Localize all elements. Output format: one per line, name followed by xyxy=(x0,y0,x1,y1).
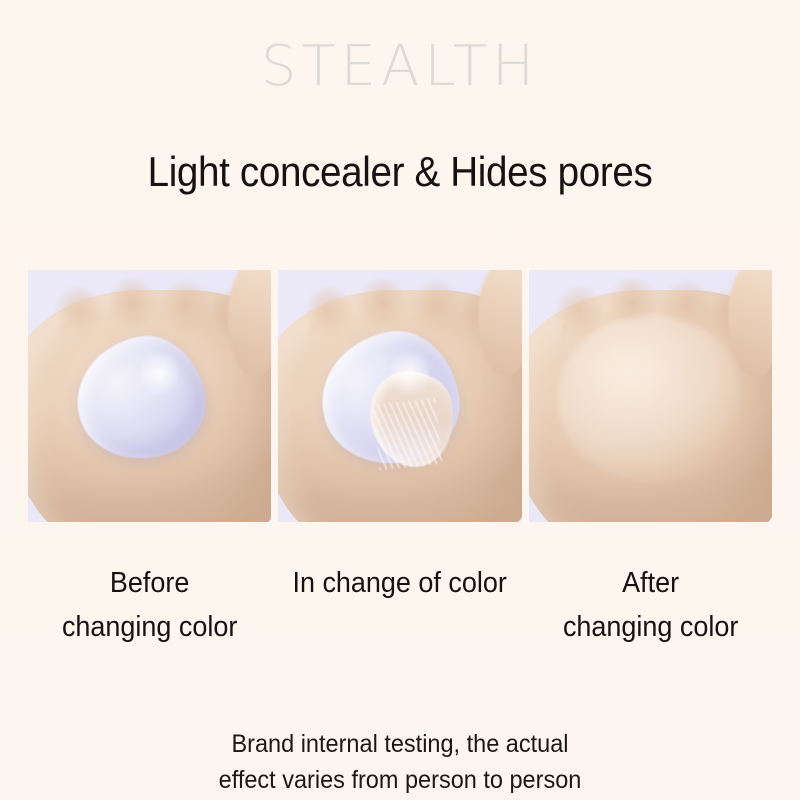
cream-highlight xyxy=(390,346,429,401)
caption-in-change: In change of color xyxy=(287,562,513,649)
caption-after-line1: After xyxy=(622,567,679,599)
demo-photo-before xyxy=(28,270,271,522)
caption-after-line2: changing color xyxy=(537,606,763,650)
brand-watermark: STEALTH xyxy=(0,36,800,98)
product-demo-gallery xyxy=(28,270,772,522)
promo-page: STEALTH Light concealer & Hides pores xyxy=(0,0,800,800)
cream-highlight xyxy=(140,346,179,401)
caption-before-line1: Before xyxy=(110,567,189,599)
caption-before: Before changing color xyxy=(37,562,263,649)
gallery-captions: Before changing color In change of color… xyxy=(28,562,772,649)
disclaimer: Brand internal testing, the actual effec… xyxy=(24,726,776,799)
disclaimer-line2: effect varies from person to person xyxy=(24,762,776,798)
caption-before-line2: changing color xyxy=(37,606,263,650)
caption-after: After changing color xyxy=(537,562,763,649)
page-title: Light concealer & Hides pores xyxy=(32,148,768,196)
demo-photo-in-change xyxy=(278,270,521,522)
absorbed-cream-area xyxy=(558,315,743,481)
demo-photo-after xyxy=(529,270,772,522)
caption-in-change-line1: In change of color xyxy=(293,567,507,599)
cream-smear-texture xyxy=(372,398,442,470)
disclaimer-line1: Brand internal testing, the actual xyxy=(231,730,568,758)
